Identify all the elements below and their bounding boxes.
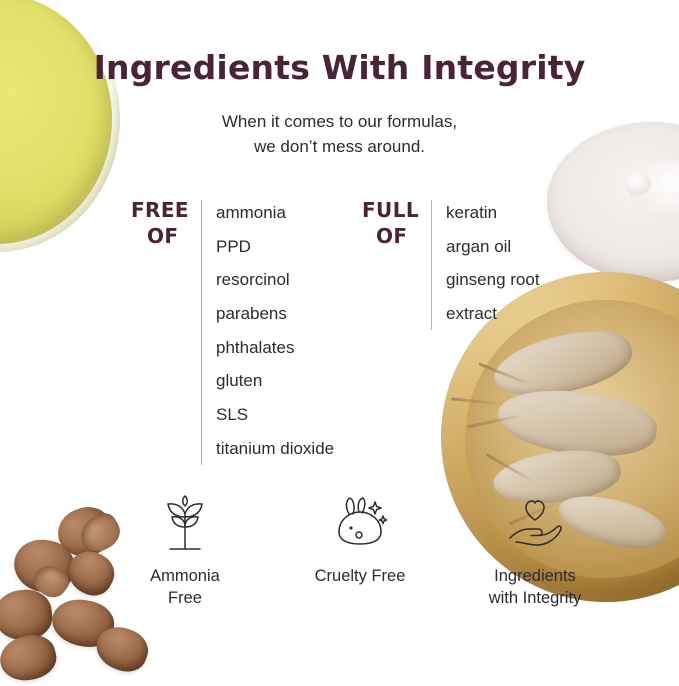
badge-ammonia-free: Ammonia Free bbox=[110, 492, 260, 610]
list-item: PPD bbox=[216, 230, 334, 264]
list-item: parabens bbox=[216, 297, 334, 331]
badge-caption-line-2: with Integrity bbox=[460, 588, 610, 610]
ginseng-rootlet bbox=[467, 415, 518, 429]
plant-sprout-icon bbox=[110, 492, 260, 554]
clear-glass-dish-inner bbox=[629, 160, 679, 222]
clear-glass-dish-droplet bbox=[625, 172, 651, 194]
list-item: phthalates bbox=[216, 331, 334, 365]
ginseng-rootlet bbox=[451, 397, 503, 405]
list-item: ammonia bbox=[216, 196, 334, 230]
free-of-label: FREE OF bbox=[131, 196, 189, 249]
list-item: argan oil bbox=[446, 230, 540, 264]
badge-cruelty-free-caption: Cruelty Free bbox=[285, 566, 435, 588]
list-item: SLS bbox=[216, 398, 334, 432]
ginseng-root-piece bbox=[494, 384, 660, 462]
badge-caption-line-1: Ammonia bbox=[110, 566, 260, 588]
list-item: titanium dioxide bbox=[216, 432, 334, 466]
badge-caption-line-1: Ingredients bbox=[460, 566, 610, 588]
full-of-items: keratin argan oil ginseng root extract bbox=[432, 196, 540, 331]
list-item: resorcinol bbox=[216, 263, 334, 297]
list-item: gluten bbox=[216, 364, 334, 398]
full-of-label: FULL OF bbox=[362, 196, 419, 249]
argan-nut bbox=[0, 630, 60, 686]
hand-heart-icon bbox=[460, 492, 610, 554]
ginseng-rootlet bbox=[478, 362, 527, 384]
list-item: keratin bbox=[446, 196, 540, 230]
rabbit-cruelty-free-icon bbox=[285, 492, 435, 554]
badge-row: Ammonia Free Cruelty Free bbox=[110, 492, 610, 610]
free-of-label-line-1: FREE bbox=[131, 198, 189, 222]
badge-caption-line-1: Cruelty Free bbox=[285, 566, 435, 588]
subtitle-line-2: we don’t mess around. bbox=[0, 135, 679, 160]
free-of-list-block: FREE OF ammonia PPD resorcinol parabens … bbox=[131, 196, 334, 465]
full-of-label-line-1: FULL bbox=[362, 198, 419, 222]
badge-ammonia-free-caption: Ammonia Free bbox=[110, 566, 260, 610]
full-of-list-block: FULL OF keratin argan oil ginseng root e… bbox=[362, 196, 540, 331]
ginseng-rootlet bbox=[486, 453, 533, 482]
list-item: ginseng root bbox=[446, 263, 540, 297]
badge-cruelty-free: Cruelty Free bbox=[285, 492, 435, 610]
badge-ingredients-with-integrity: Ingredients with Integrity bbox=[460, 492, 610, 610]
free-of-label-line-2: OF bbox=[131, 224, 189, 250]
full-of-label-line-2: OF bbox=[362, 224, 419, 250]
ginseng-root-piece bbox=[488, 320, 637, 408]
subtitle: When it comes to our formulas, we don’t … bbox=[0, 110, 679, 159]
badge-ingredients-caption: Ingredients with Integrity bbox=[460, 566, 610, 610]
free-of-items: ammonia PPD resorcinol parabens phthalat… bbox=[202, 196, 334, 465]
list-item: extract bbox=[446, 297, 540, 331]
badge-caption-line-2: Free bbox=[110, 588, 260, 610]
page-title: Ingredients With Integrity bbox=[0, 48, 679, 87]
subtitle-line-1: When it comes to our formulas, bbox=[0, 110, 679, 135]
